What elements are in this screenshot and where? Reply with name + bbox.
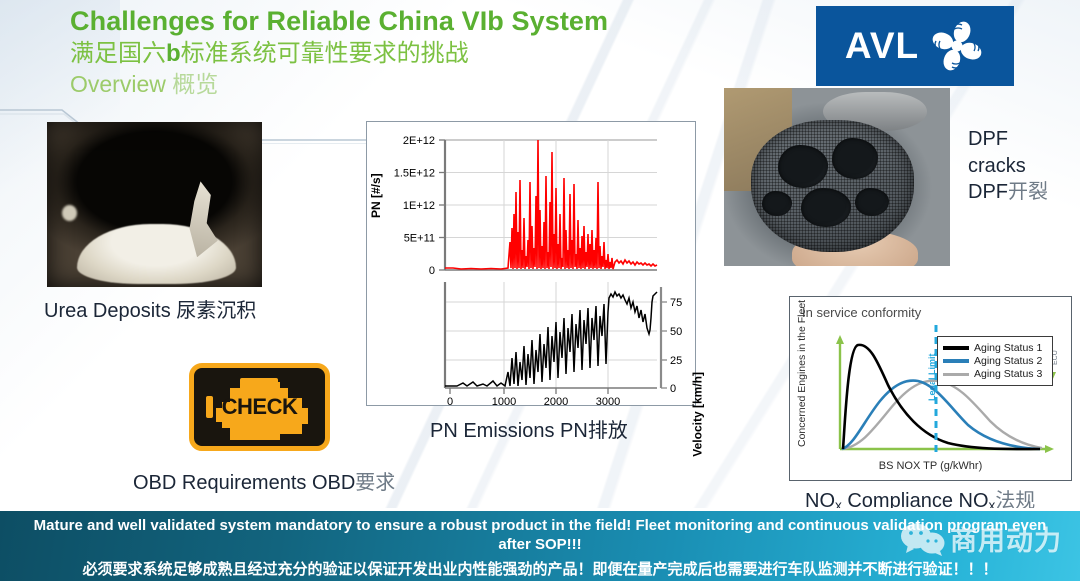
dpf-filter-body xyxy=(751,120,914,252)
svg-text:25: 25 xyxy=(670,355,682,367)
dpf-crack-hole xyxy=(801,188,851,227)
avl-logo-text: AVL xyxy=(845,25,919,67)
dpf-caption-line3: DPF开裂 xyxy=(968,179,1076,206)
title-english: Challenges for Reliable China VIb System xyxy=(70,6,770,37)
avl-flower-icon xyxy=(929,18,985,74)
svg-text:0: 0 xyxy=(670,383,676,395)
pn-x-tick-labels: 0 1000 2000 3000 xyxy=(447,396,620,407)
page-title: Challenges for Reliable China VIb System… xyxy=(70,6,770,99)
svg-text:1000: 1000 xyxy=(492,396,516,407)
title-cn-bold: b xyxy=(166,40,181,67)
svg-text:1E+12: 1E+12 xyxy=(403,200,435,212)
velocity-series-trace xyxy=(445,292,657,386)
pn-emissions-chart: PN [#/s] Velocity [km/h] xyxy=(366,121,696,406)
svg-text:1.5E+12: 1.5E+12 xyxy=(394,168,435,180)
dpf-crack-hole xyxy=(778,145,828,188)
svg-text:50: 50 xyxy=(670,326,682,338)
urea-caption-en: Urea Deposits xyxy=(44,300,171,322)
slide-root: Challenges for Reliable China VIb System… xyxy=(0,0,1080,581)
dpf-crack-hole xyxy=(855,188,889,216)
dpf-caption-line2: cracks xyxy=(968,153,1076,180)
legend-item: Aging Status 2 xyxy=(943,355,1047,367)
nox-series-aging-status-3 xyxy=(842,381,1042,449)
dpf-caption-line1: DPF xyxy=(968,126,1076,153)
dpf-caption-line3-cn: 开裂 xyxy=(1008,181,1048,203)
velocity-y-tick-labels: 75 50 25 0 xyxy=(670,297,682,395)
banner-text-english: Mature and well validated system mandato… xyxy=(25,516,1055,555)
banner-text-chinese: 必须要求系统足够成熟且经过充分的验证以保证开发出业内性能强劲的产品！即便在量产完… xyxy=(82,558,997,579)
dpf-caption: DPF cracks DPF开裂 xyxy=(968,126,1076,206)
legend-item: Aging Status 1 xyxy=(943,342,1047,354)
nox-chart-legend: Aging Status 1 Aging Status 2 Aging Stat… xyxy=(937,336,1053,386)
legend-swatch-aging-status-1 xyxy=(943,346,969,350)
svg-text:3000: 3000 xyxy=(596,396,620,407)
svg-text:0: 0 xyxy=(429,265,435,277)
dpf-cracks-photo xyxy=(724,88,950,266)
svg-text:2E+12: 2E+12 xyxy=(403,135,435,147)
title-cn-post: 标准系统可靠性要求的挑战 xyxy=(181,40,469,67)
obd-caption-cn: 要求 xyxy=(355,472,395,494)
bottom-banner: Mature and well validated system mandato… xyxy=(0,508,1080,581)
pn-y-tick-labels: 2E+12 1.5E+12 1E+12 5E+11 0 xyxy=(394,135,435,277)
pn-chart-plot: 2E+12 1.5E+12 1E+12 5E+11 0 xyxy=(367,122,697,407)
title-cn-pre: 满足国六 xyxy=(70,40,166,67)
pn-caption-en: PN Emissions PN xyxy=(430,420,588,442)
nox-compliance-chart: In service conformity Concerned Engines … xyxy=(789,296,1072,481)
legend-label-aging-status-2: Aging Status 2 xyxy=(974,355,1042,367)
dpf-crack-hole xyxy=(762,191,791,216)
pn-caption-cn: 排放 xyxy=(588,420,628,442)
nox-chart-plot xyxy=(790,297,1073,482)
legend-swatch-aging-status-2 xyxy=(943,359,969,363)
check-engine-label: CHECK xyxy=(194,394,325,420)
subtitle-chinese: 概览 xyxy=(172,71,218,97)
subtitle-english: Overview xyxy=(70,71,166,97)
legend-label-aging-status-1: Aging Status 1 xyxy=(974,342,1042,354)
avl-logo: AVL xyxy=(816,6,1014,86)
obd-caption: OBD Requirements OBD要求 xyxy=(133,466,395,495)
obd-caption-en: OBD Requirements OBD xyxy=(133,472,355,494)
urea-deposits-photo xyxy=(47,122,262,287)
check-engine-light-icon: CHECK xyxy=(189,363,330,451)
dpf-crack-hole xyxy=(832,138,877,179)
svg-text:0: 0 xyxy=(447,396,453,407)
pn-caption: PN Emissions PN排放 xyxy=(430,414,628,443)
urea-caption-cn: 尿素沉积 xyxy=(176,300,256,322)
dpf-caption-line3-en: DPF xyxy=(968,181,1008,203)
nox-series-aging-status-2 xyxy=(842,381,1040,449)
svg-text:5E+11: 5E+11 xyxy=(404,233,435,245)
pn-x-ticks xyxy=(450,388,608,394)
urea-photo-glint xyxy=(62,205,77,222)
legend-label-aging-status-3: Aging Status 3 xyxy=(974,368,1042,380)
urea-caption: Urea Deposits 尿素沉积 xyxy=(44,294,256,323)
title-subtitle: Overview 概览 xyxy=(70,70,770,99)
svg-text:75: 75 xyxy=(670,297,682,309)
legend-item: Aging Status 3 xyxy=(943,368,1047,380)
svg-text:2000: 2000 xyxy=(544,396,568,407)
title-chinese: 满足国六b标准系统可靠性要求的挑战 xyxy=(70,38,770,69)
legend-swatch-aging-status-3 xyxy=(943,373,969,376)
